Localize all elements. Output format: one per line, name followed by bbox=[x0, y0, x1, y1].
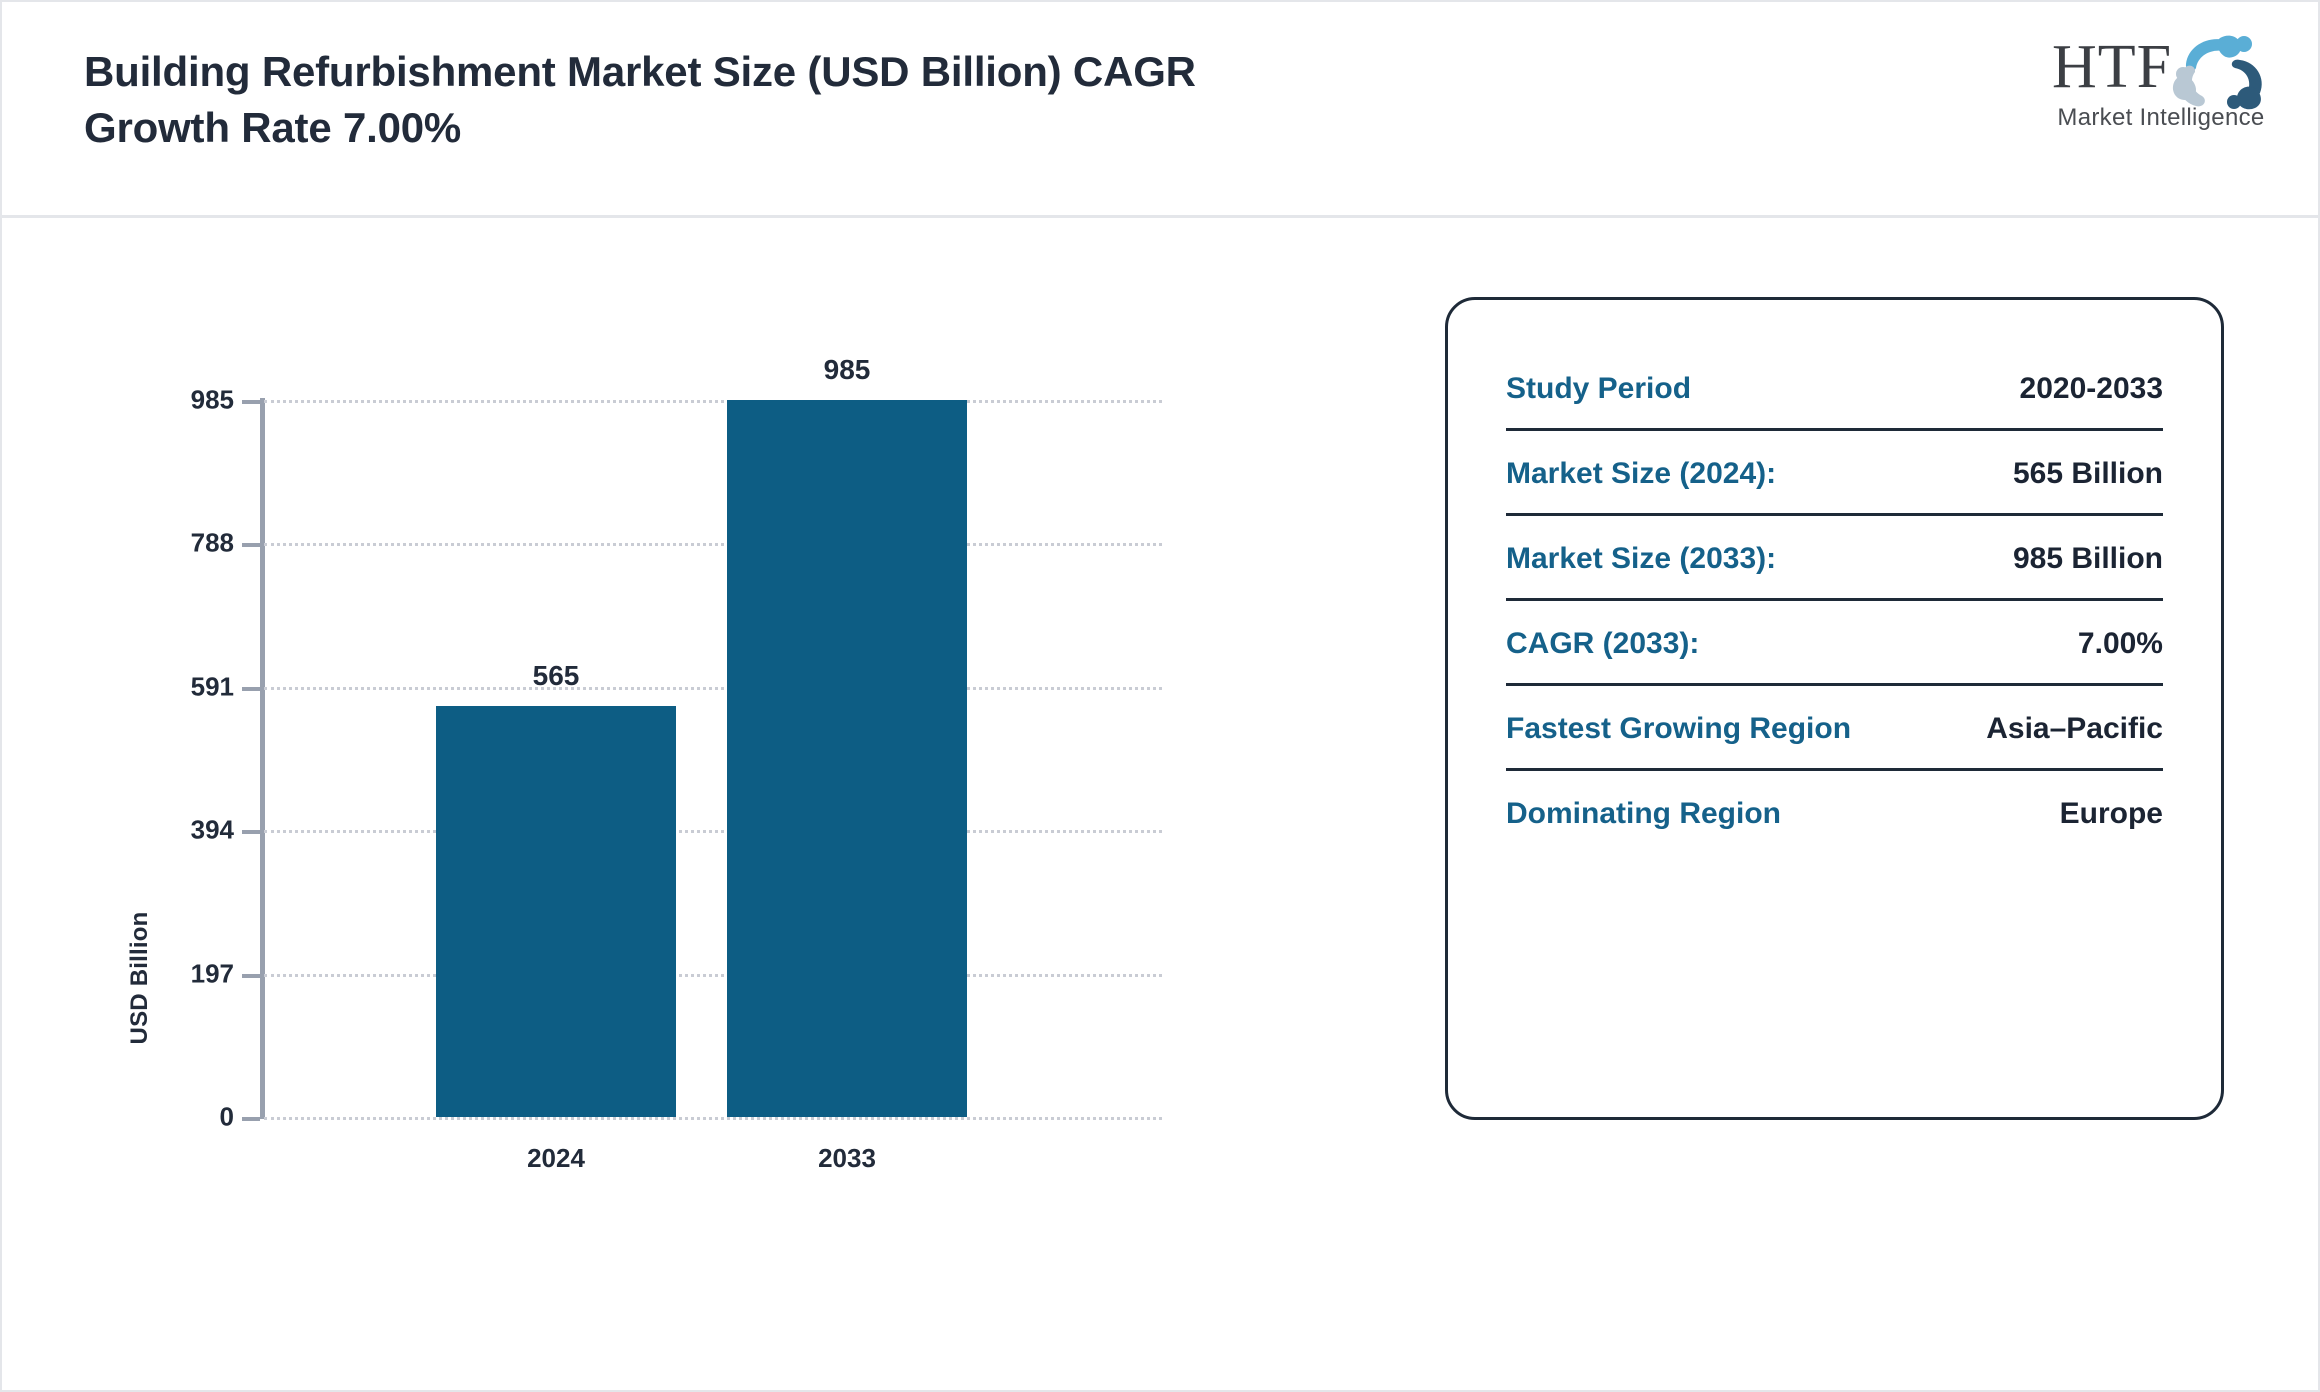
y-tick bbox=[242, 543, 260, 547]
market-summary-card: Study Period 2020-2033 Market Size (2024… bbox=[1445, 297, 2224, 1120]
page-title: Building Refurbishment Market Size (USD … bbox=[84, 44, 1334, 156]
y-tick bbox=[242, 400, 260, 404]
logo-wordmark: HTF bbox=[2052, 36, 2172, 98]
y-axis-line bbox=[260, 398, 265, 1119]
info-row-cagr-2033: CAGR (2033): 7.00% bbox=[1506, 627, 2163, 686]
logo-emblem-icon bbox=[2168, 30, 2276, 110]
bar-chart: USD Billion 985 788 591 394 197 0 bbox=[2, 218, 1402, 1392]
bar-2024[interactable]: 565 2024 bbox=[436, 706, 676, 1117]
gridline bbox=[264, 543, 1162, 546]
info-value: 565 Billion bbox=[2013, 457, 2163, 491]
info-label: Study Period bbox=[1506, 372, 1691, 406]
gridline bbox=[264, 1117, 1162, 1120]
y-axis-title: USD Billion bbox=[126, 912, 154, 1045]
x-tick-label-2033: 2033 bbox=[818, 1143, 876, 1174]
x-tick-label-2024: 2024 bbox=[527, 1143, 585, 1174]
info-row-fastest-growing-region: Fastest Growing Region Asia–Pacific bbox=[1506, 712, 2163, 771]
gridline bbox=[264, 830, 1162, 833]
y-tick bbox=[242, 687, 260, 691]
y-tick-label: 591 bbox=[191, 671, 234, 702]
info-label: Fastest Growing Region bbox=[1506, 712, 1851, 746]
info-value: Europe bbox=[2060, 797, 2163, 831]
htf-logo: HTF Market Intelligence bbox=[2046, 30, 2276, 142]
plot-area: 985 788 591 394 197 0 565 2024 985 2033 bbox=[264, 400, 1162, 1117]
y-tick-label: 985 bbox=[191, 385, 234, 416]
gridline bbox=[264, 400, 1162, 403]
y-tick-label: 394 bbox=[191, 815, 234, 846]
info-row-dominating-region: Dominating Region Europe bbox=[1506, 797, 2163, 853]
page-header: Building Refurbishment Market Size (USD … bbox=[2, 2, 2318, 218]
info-value: 2020-2033 bbox=[2020, 372, 2163, 406]
y-tick bbox=[242, 830, 260, 834]
y-tick bbox=[242, 1117, 260, 1121]
info-label: Market Size (2024): bbox=[1506, 457, 1776, 491]
info-label: Dominating Region bbox=[1506, 797, 1781, 831]
chart-page: Building Refurbishment Market Size (USD … bbox=[0, 0, 2320, 1392]
info-row-market-size-2033: Market Size (2033): 985 Billion bbox=[1506, 542, 2163, 601]
info-label: Market Size (2033): bbox=[1506, 542, 1776, 576]
bar-value-label: 985 bbox=[824, 354, 871, 386]
y-tick-label: 0 bbox=[220, 1102, 234, 1133]
info-value: Asia–Pacific bbox=[1986, 712, 2163, 746]
info-row-market-size-2024: Market Size (2024): 565 Billion bbox=[1506, 457, 2163, 516]
gridline bbox=[264, 687, 1162, 690]
gridline bbox=[264, 974, 1162, 977]
logo-tagline: Market Intelligence bbox=[2050, 104, 2272, 132]
info-value: 7.00% bbox=[2078, 627, 2163, 661]
bar-value-label: 565 bbox=[533, 660, 580, 692]
info-label: CAGR (2033): bbox=[1506, 627, 1699, 661]
y-tick-label: 197 bbox=[191, 958, 234, 989]
bar-2033[interactable]: 985 2033 bbox=[727, 400, 967, 1117]
y-tick bbox=[242, 974, 260, 978]
y-tick-label: 788 bbox=[191, 528, 234, 559]
info-row-study-period: Study Period 2020-2033 bbox=[1506, 372, 2163, 431]
info-value: 985 Billion bbox=[2013, 542, 2163, 576]
